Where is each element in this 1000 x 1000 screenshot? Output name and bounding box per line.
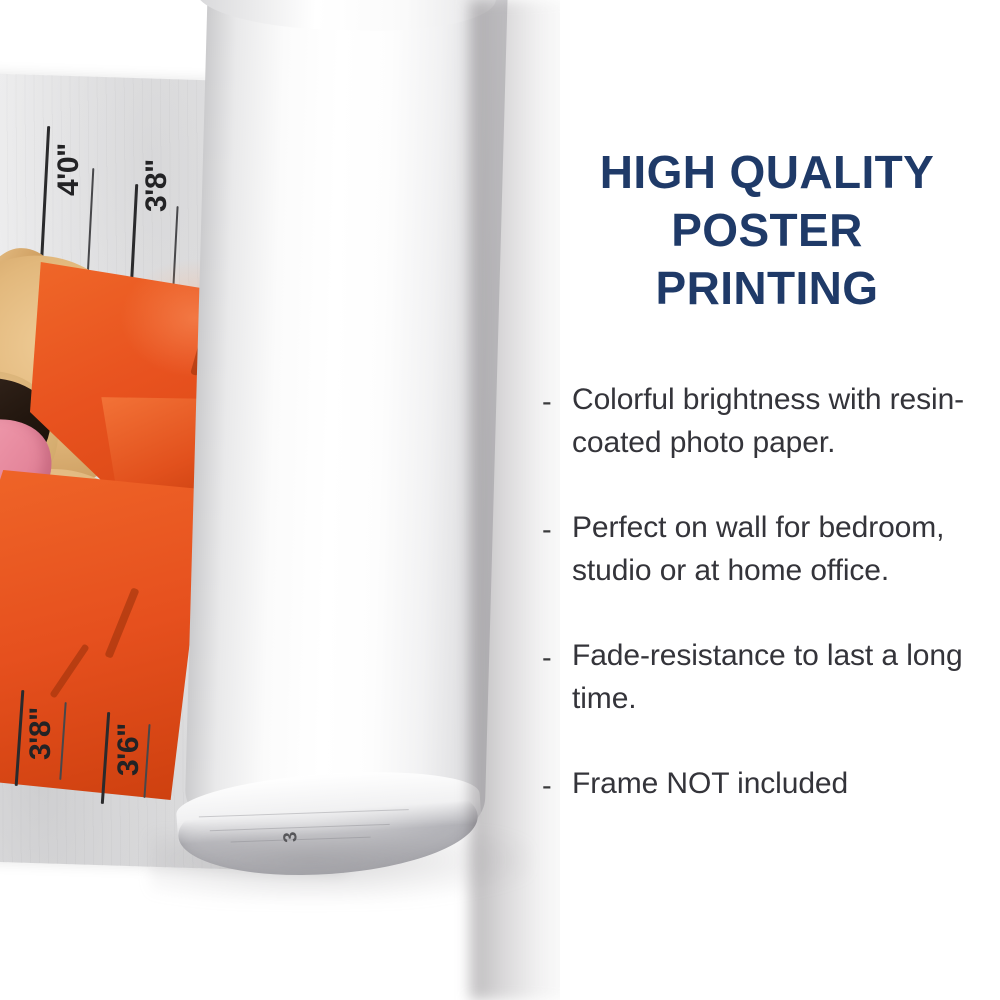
feature-text: Perfect on wall for bedroom, studio or a… bbox=[572, 506, 1000, 592]
bullet-dash-icon: - bbox=[542, 506, 572, 552]
height-label-3-8-lower: 3'8" bbox=[24, 707, 58, 760]
list-item: - Fade-resistance to last a long time. bbox=[542, 634, 1000, 720]
feature-text: Colorful brightness with resin-coated ph… bbox=[572, 378, 1000, 464]
feature-text: Frame NOT included bbox=[572, 762, 1000, 805]
height-label-3-8: 3'8" bbox=[140, 159, 174, 212]
headline-line-3: PRINTING bbox=[534, 259, 1000, 317]
rolled-poster-photo: 4'0" 3'8" 3'6" 3'4" 3'8" 3'6" bbox=[0, 0, 560, 1000]
height-label-3-6-lower: 3'6" bbox=[112, 723, 146, 776]
page-title: HIGH QUALITY POSTER PRINTING bbox=[534, 143, 1000, 317]
feature-list: - Colorful brightness with resin-coated … bbox=[542, 378, 1000, 808]
list-item: - Colorful brightness with resin-coated … bbox=[542, 378, 1000, 464]
list-item: - Frame NOT included bbox=[542, 762, 1000, 808]
paper-roll-tube bbox=[183, 0, 508, 864]
bullet-dash-icon: - bbox=[542, 378, 572, 424]
headline-line-2: POSTER bbox=[534, 201, 1000, 259]
product-marketing-image: 4'0" 3'8" 3'6" 3'4" 3'8" 3'6" bbox=[0, 0, 1000, 1000]
bullet-dash-icon: - bbox=[542, 634, 572, 680]
list-item: - Perfect on wall for bedroom, studio or… bbox=[542, 506, 1000, 592]
feature-text: Fade-resistance to last a long time. bbox=[572, 634, 1000, 720]
headline-line-1: HIGH QUALITY bbox=[534, 143, 1000, 201]
marketing-copy-panel: HIGH QUALITY POSTER PRINTING - Colorful … bbox=[534, 0, 1000, 1000]
height-label-4-0: 4'0" bbox=[52, 143, 86, 196]
bullet-dash-icon: - bbox=[542, 762, 572, 808]
